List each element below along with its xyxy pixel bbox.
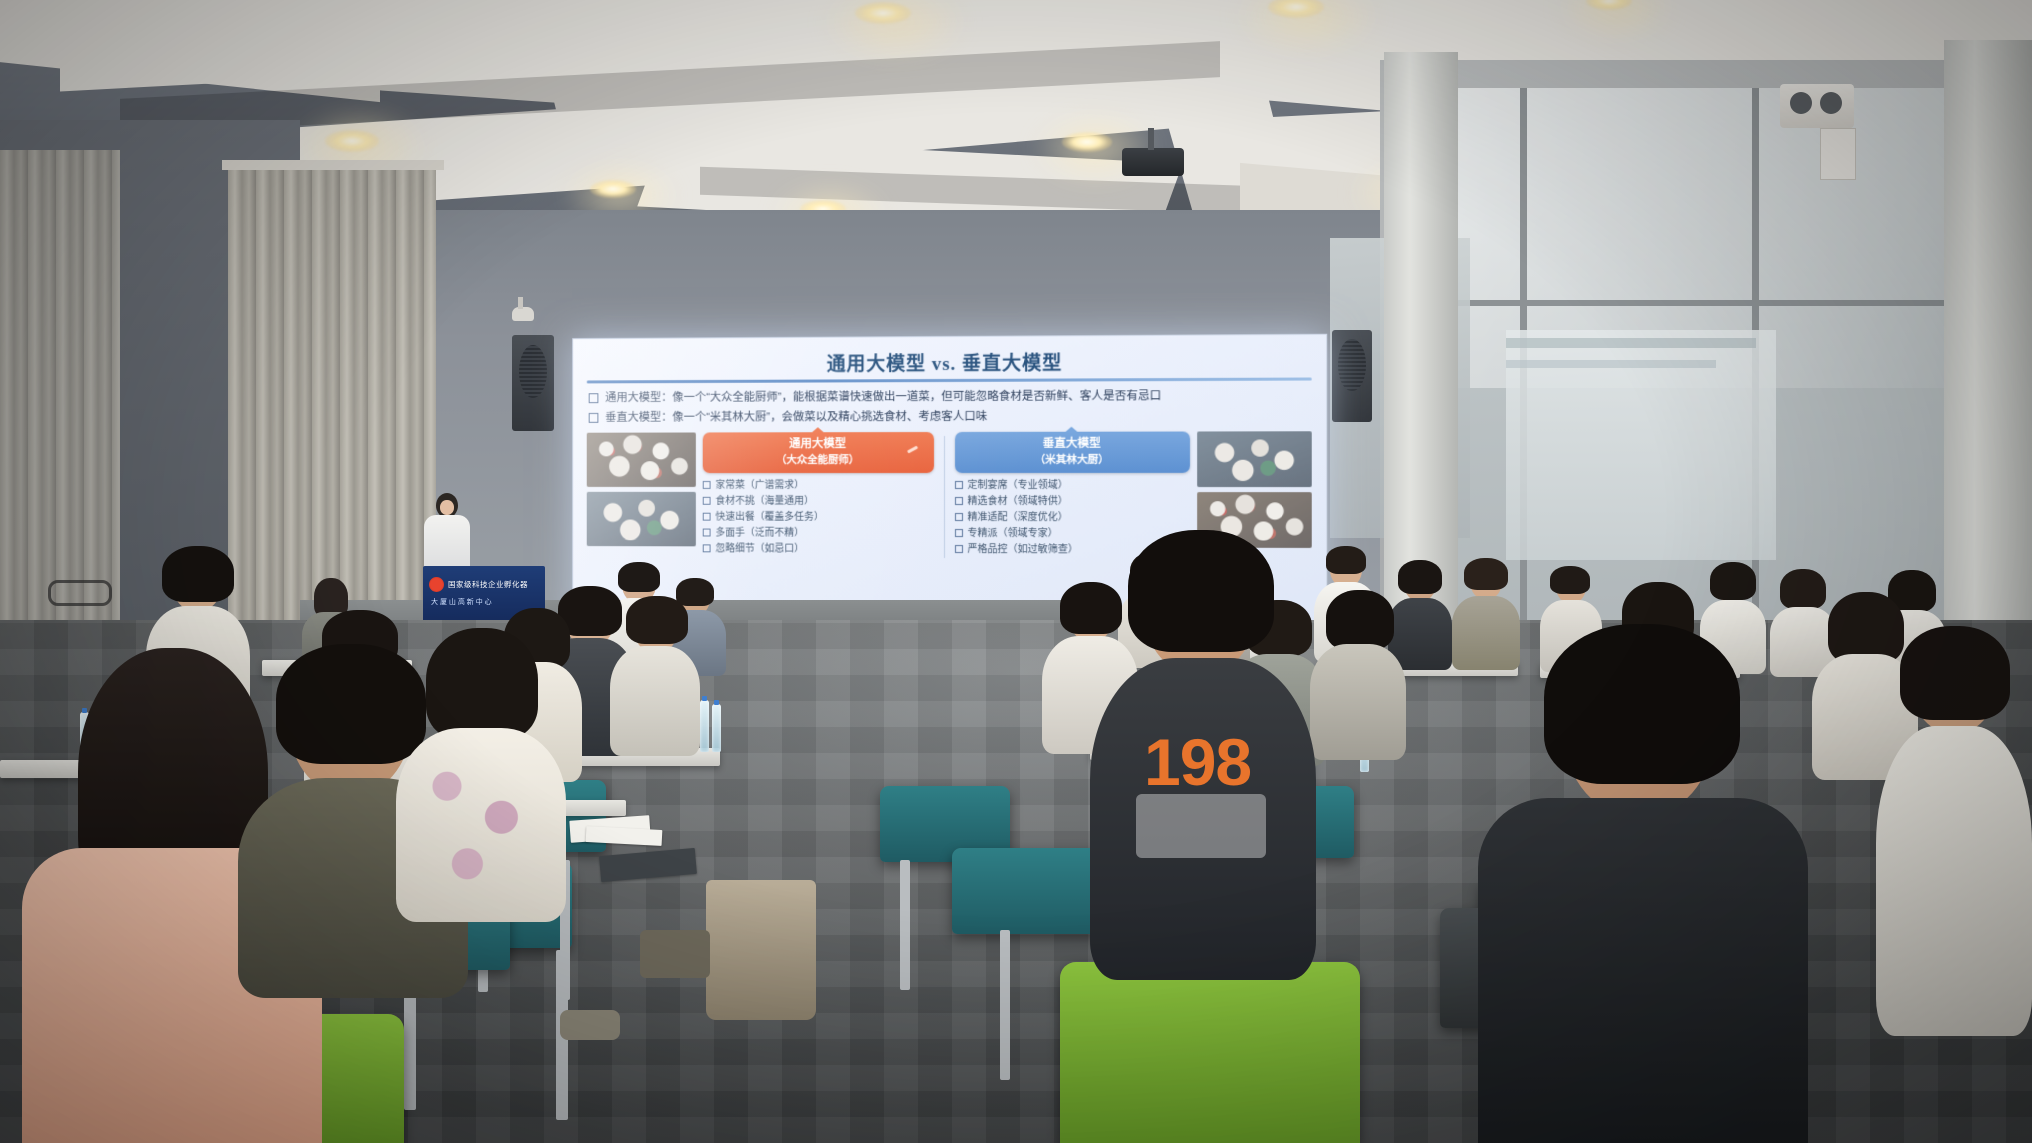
bullet-square-icon: [703, 497, 711, 505]
hair: [162, 546, 234, 602]
backpack: [706, 880, 816, 1020]
list-item: 忽略细节（如忌口）: [703, 541, 934, 557]
list-item-label: 定制宴席（专业领域）: [967, 478, 1067, 493]
list-item-label: 快速出餐（覆盖多任务）: [715, 510, 823, 525]
water-bottle: [712, 704, 721, 752]
curtain-rail: [222, 160, 444, 170]
podium-org-name: 国家级科技企业孵化器: [448, 579, 528, 590]
bullet-square-icon: [954, 497, 962, 505]
attendee: [610, 604, 700, 754]
list-item-label: 精准适配（深度优化）: [967, 510, 1067, 525]
hair: [676, 578, 714, 606]
presenter-face: [440, 500, 454, 515]
security-camera-icon: [512, 307, 534, 321]
vertical-model-card-header: 垂直大模型 （米其林大厨）: [954, 432, 1190, 473]
torso: [1310, 644, 1406, 760]
hair: [1326, 546, 1366, 574]
slide-bullet-text: 通用大模型：像一个“大众全能厨师”，能根据菜谱快速做出一道菜，但可能忽略食材是否…: [605, 388, 1161, 407]
camera-mount: [518, 297, 523, 309]
list-item: 精选食材（领域特供）: [954, 494, 1190, 509]
desk: [556, 800, 626, 816]
bullet-square-icon: [589, 393, 599, 403]
list-item: 专精派（领域专家）: [954, 526, 1190, 542]
hair: [1128, 530, 1274, 652]
bullet-square-icon: [703, 529, 711, 537]
hair: [1464, 558, 1508, 590]
list-item-label: 严格品控（如过敏筛查）: [967, 542, 1078, 557]
slide-bullet-text: 垂直大模型：像一个“米其林大厨”，会做菜以及精心挑选食材、考虑客人口味: [605, 409, 987, 427]
general-model-subtitle: （大众全能厨师）: [707, 453, 930, 467]
chair: [1060, 962, 1360, 1143]
water-bottle: [700, 700, 709, 752]
attendee-front-right-tshirt: 198: [1090, 548, 1316, 978]
general-model-column: 通用大模型 （大众全能厨师） 家常菜（广谱需求） 食材不挑（海量通用） 快速出餐…: [703, 432, 934, 558]
seminar-room-photo: 通用大模型 vs. 垂直大模型 通用大模型：像一个“大众全能厨师”，能根据菜谱快…: [0, 0, 2032, 1143]
slide-title: 通用大模型 vs. 垂直大模型: [587, 347, 1312, 377]
hair: [1550, 566, 1590, 594]
general-model-items: 家常菜（广谱需求） 食材不挑（海量通用） 快速出餐（覆盖多任务） 多面手（泛而不…: [703, 478, 934, 558]
hair: [1900, 626, 2010, 720]
bullet-square-icon: [954, 481, 962, 489]
list-item-label: 家常菜（广谱需求）: [715, 478, 804, 493]
list-item-label: 食材不挑（海量通用）: [715, 494, 813, 509]
hair: [1398, 560, 1442, 594]
attendee-front-far-right: [1478, 648, 1808, 1143]
bullet-square-icon: [703, 481, 711, 489]
list-item: 精准适配（深度优化）: [954, 510, 1190, 525]
torso: [1876, 726, 2032, 1036]
speaker-cone-icon: [1820, 92, 1842, 114]
handbag: [640, 930, 710, 978]
slide-bullet: 通用大模型：像一个“大众全能厨师”，能根据菜谱快速做出一道菜，但可能忽略食材是否…: [589, 388, 1312, 407]
attendee-front-flower: [396, 640, 566, 920]
list-item-label: 多面手（泛而不精）: [715, 526, 804, 541]
list-item: 食材不挑（海量通用）: [703, 494, 934, 509]
column-divider: [944, 436, 945, 558]
torso: [1478, 798, 1808, 1143]
projector-mount: [1148, 128, 1154, 150]
chair-frame: [1000, 930, 1010, 1080]
attendee-right-edge: [1876, 640, 2032, 1040]
bullet-square-icon: [589, 413, 599, 423]
bullet-square-icon: [703, 513, 711, 521]
hair: [1710, 562, 1756, 600]
podium-sub-name: 大 厦 山 高 新 中 心: [431, 597, 539, 607]
list-item-label: 专精派（领域专家）: [967, 526, 1057, 541]
list-item: 定制宴席（专业领域）: [954, 478, 1190, 493]
speaker-cone-icon: [1790, 92, 1812, 114]
list-item-label: 忽略细节（如忌口）: [715, 541, 804, 556]
hair: [426, 628, 538, 740]
wall-speaker-right: [1332, 330, 1372, 422]
banquet-dishes-photo: [587, 433, 696, 487]
torso: [396, 728, 566, 922]
torso: [610, 646, 700, 756]
wall-speaker-left: [512, 335, 554, 431]
title-divider: [587, 377, 1312, 383]
food-photo-column: [587, 433, 696, 557]
window-curtain-left: [228, 165, 436, 635]
chair-frame: [900, 860, 910, 990]
tshirt-print: 198: [1144, 724, 1251, 800]
wall-panel: [1820, 128, 1856, 180]
vertical-model-subtitle: （米其林大厨）: [958, 453, 1185, 467]
hotpot-table-photo: [587, 492, 696, 547]
general-model-card-header: 通用大模型 （大众全能厨师）: [703, 432, 934, 473]
podium-sign: 国家级科技企业孵化器: [429, 574, 539, 594]
list-item: 快速出餐（覆盖多任务）: [703, 510, 934, 525]
general-model-title: 通用大模型: [707, 437, 930, 453]
bullet-square-icon: [703, 544, 711, 552]
shoe: [560, 1010, 620, 1040]
hair: [1326, 590, 1394, 650]
hair: [626, 596, 688, 644]
hair: [1544, 624, 1740, 784]
ceiling-projector: [1122, 148, 1184, 176]
eyeglasses-icon: [48, 580, 112, 606]
bullet-square-icon: [954, 545, 962, 553]
list-item: 多面手（泛而不精）: [703, 526, 934, 541]
room-pillar-far-right: [1944, 40, 2032, 680]
chair: [952, 848, 1102, 934]
window-curtain-left-2: [0, 150, 120, 650]
list-item: 家常菜（广谱需求）: [703, 478, 934, 493]
vertical-model-title: 垂直大模型: [958, 437, 1185, 453]
emblem-icon: [429, 577, 444, 592]
bullet-square-icon: [954, 529, 962, 537]
slide-bullet: 垂直大模型：像一个“米其林大厨”，会做菜以及精心挑选食材、考虑客人口味: [589, 408, 1312, 427]
tshirt-graphic: [1136, 794, 1266, 858]
window-sign-strip: [1506, 360, 1716, 368]
hair: [618, 562, 660, 592]
plated-dish-photo: [1197, 432, 1312, 488]
window-sign-strip: [1506, 338, 1756, 348]
list-item-label: 精选食材（领域特供）: [967, 494, 1067, 509]
bullet-square-icon: [954, 513, 962, 521]
attendee: [1310, 598, 1406, 758]
